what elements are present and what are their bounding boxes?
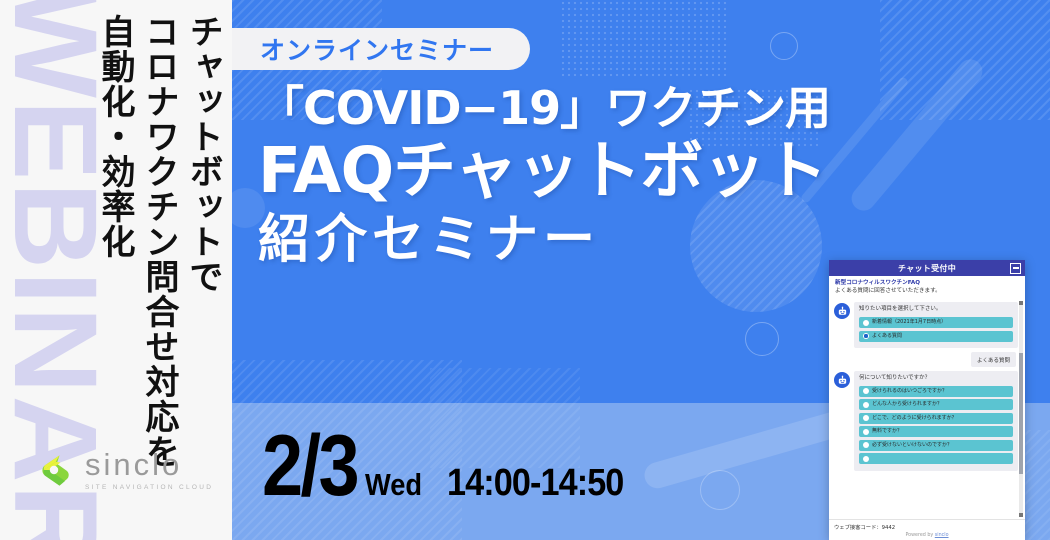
chat-widget-header: チャット受付中 — [829, 260, 1025, 276]
title-line-3: 紹介セミナー — [258, 211, 830, 269]
chat-option-label: 新着情報（2021年1月7日時点） — [872, 320, 946, 325]
left-panel: WEBINAR チャットボットで コロナワクチン問合せ対応を 自動化・効率化 s… — [0, 0, 232, 540]
radio-icon[interactable] — [863, 442, 869, 448]
seminar-type-badge-label: オンラインセミナー — [260, 31, 494, 67]
sinclo-logo: sinclo SITE NAVIGATION CLOUD — [32, 448, 213, 492]
chat-option[interactable]: 受けられるのはいつごろですか？ — [859, 386, 1013, 397]
chat-option-label: どんな人から受けられますか？ — [872, 402, 942, 407]
event-weekday: Wed — [365, 467, 422, 503]
chat-option-label: 必ず受けないといけないのですか？ — [872, 443, 952, 448]
vertical-headline-2: コロナワクチン問合せ対応を — [142, 14, 176, 469]
chat-option[interactable]: よくある質問 — [859, 331, 1013, 342]
radio-icon[interactable] — [863, 402, 869, 408]
chat-widget-title: チャット受付中 — [898, 263, 956, 274]
logo-wordmark: sinclo — [85, 449, 213, 480]
powered-by: Powered by sinclo — [834, 533, 1020, 538]
chat-bubble-user: よくある質問 — [971, 352, 1016, 367]
chat-widget-footer: ウェブ接客コード：9442 Powered by sinclo — [829, 519, 1025, 540]
chat-option[interactable]: 無料ですか？ — [859, 426, 1013, 437]
vertical-headline-1: チャットボットで — [186, 14, 220, 294]
chat-widget-mockup[interactable]: チャット受付中 新型コロナウィルスワクチンFAQ よくある質問に回答させていただ… — [829, 260, 1025, 540]
chat-message-user: よくある質問 — [834, 352, 1018, 367]
chat-option-label: 無料ですか？ — [872, 429, 902, 434]
chat-option-label: どこで、どのように受けられますか？ — [872, 416, 957, 421]
webinar-banner: WEBINAR チャットボットで コロナワクチン問合せ対応を 自動化・効率化 s… — [0, 0, 1050, 540]
chat-scrollbar[interactable] — [1019, 301, 1023, 517]
radio-icon[interactable] — [863, 320, 869, 326]
chat-option-partial[interactable] — [859, 453, 1013, 464]
event-date: 2/3 — [262, 428, 357, 505]
chat-option-label: よくある質問 — [872, 334, 902, 339]
chat-intro-title: 新型コロナウィルスワクチンFAQ — [835, 279, 1020, 287]
chat-conversation[interactable]: 知りたい項目を選択して下さい。 新着情報（2021年1月7日時点） よくある質問… — [829, 299, 1025, 519]
event-time: 14:00-14:50 — [447, 462, 623, 505]
sinclo-logo-icon — [32, 448, 76, 492]
title-line-1: 「COVID−19」ワクチン用 — [258, 84, 830, 134]
chat-option[interactable]: 新着情報（2021年1月7日時点） — [859, 317, 1013, 328]
robot-avatar-icon — [834, 303, 850, 319]
chat-option[interactable]: 必ず受けないといけないのですか？ — [859, 440, 1013, 451]
chat-intro: 新型コロナウィルスワクチンFAQ よくある質問に回答させていただきます。 — [829, 276, 1025, 299]
scroll-down-arrow-icon[interactable] — [1019, 513, 1023, 517]
chat-message-bot-2: 何について知りたいですか？ 受けられるのはいつごろですか？ どんな人から受けられ… — [834, 371, 1018, 471]
scroll-up-arrow-icon[interactable] — [1019, 301, 1023, 305]
powered-by-brand[interactable]: sinclo — [935, 533, 949, 538]
radio-icon[interactable] — [863, 415, 869, 421]
minimize-icon[interactable] — [1010, 263, 1021, 274]
event-datetime: 2/3 Wed 14:00-14:50 — [262, 428, 644, 505]
chat-message-bot-1: 知りたい項目を選択して下さい。 新着情報（2021年1月7日時点） よくある質問 — [834, 302, 1018, 348]
radio-icon[interactable] — [863, 388, 869, 394]
logo-tagline: SITE NAVIGATION CLOUD — [85, 484, 213, 491]
chat-question-1: 知りたい項目を選択して下さい。 — [859, 306, 1013, 314]
chat-intro-desc: よくある質問に回答させていただきます。 — [835, 287, 1020, 296]
chat-bubble-bot-1: 知りたい項目を選択して下さい。 新着情報（2021年1月7日時点） よくある質問 — [854, 302, 1018, 348]
chat-option[interactable]: どこで、どのように受けられますか？ — [859, 413, 1013, 424]
web-contact-code: ウェブ接客コード：9442 — [834, 523, 1020, 531]
chat-bubble-bot-2: 何について知りたいですか？ 受けられるのはいつごろですか？ どんな人から受けられ… — [854, 371, 1018, 471]
title-line-2: FAQチャットボット — [258, 136, 830, 205]
page-title: 「COVID−19」ワクチン用 FAQチャットボット 紹介セミナー — [258, 84, 830, 269]
chat-question-2: 何について知りたいですか？ — [859, 375, 1013, 383]
chat-option-label: 受けられるのはいつごろですか？ — [872, 389, 947, 394]
radio-icon-selected[interactable] — [863, 333, 869, 339]
vertical-headline-3: 自動化・効率化 — [98, 14, 132, 259]
radio-icon[interactable] — [863, 429, 869, 435]
powered-by-prefix: Powered by — [905, 533, 934, 538]
seminar-type-badge: オンラインセミナー — [232, 28, 530, 70]
chat-option[interactable]: どんな人から受けられますか？ — [859, 399, 1013, 410]
radio-icon[interactable] — [863, 456, 869, 462]
robot-avatar-icon — [834, 372, 850, 388]
